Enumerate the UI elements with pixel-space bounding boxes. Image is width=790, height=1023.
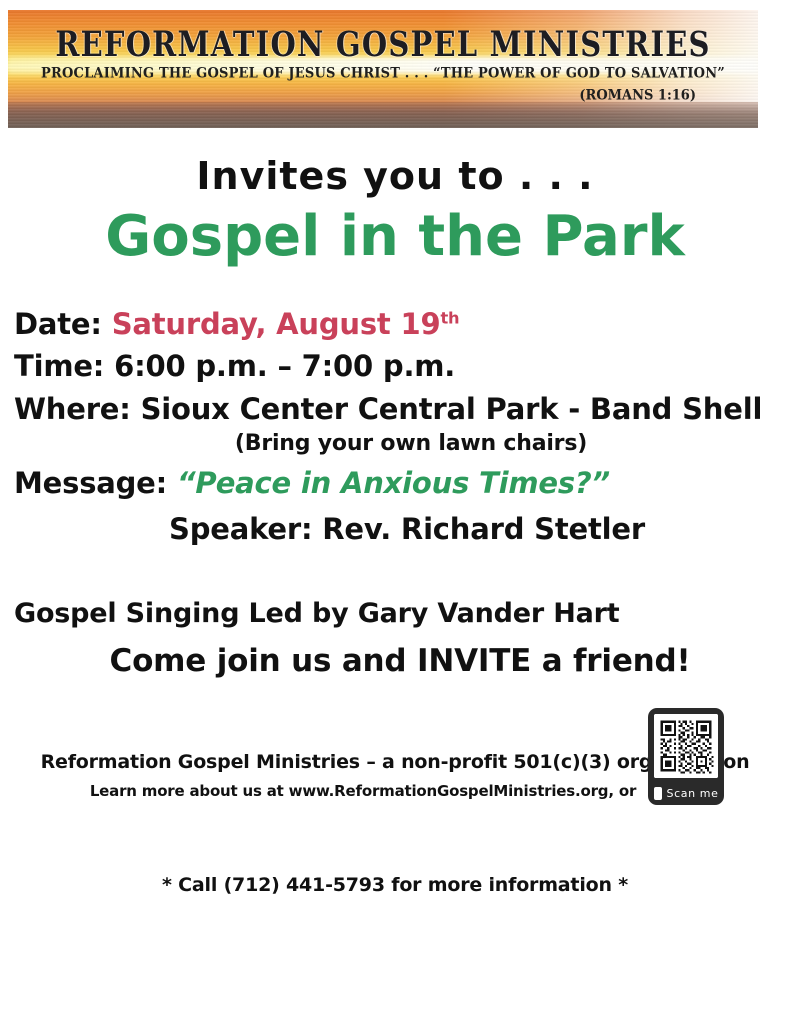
event-title: Gospel in the Park: [0, 204, 790, 269]
ministry-tagline: PROCLAIMING THE GOSPEL OF JESUS CHRIST .…: [8, 65, 758, 82]
ministry-name: REFORMATION GOSPEL MINISTRIES: [8, 24, 758, 64]
qr-code-icon: [654, 714, 718, 778]
call-to-action: Come join us and INVITE a friend!: [10, 643, 790, 679]
learn-more-line: Learn more about us at www.ReformationGo…: [0, 782, 726, 800]
time-value: 6:00 p.m. – 7:00 p.m.: [114, 349, 455, 383]
time-label: Time:: [14, 349, 104, 383]
where-note: (Bring your own lawn chairs): [32, 431, 790, 456]
detail-row-date: Date: Saturday, August 19th: [14, 303, 790, 345]
detail-row-where: Where: Sioux Center Central Park - Band …: [14, 388, 790, 430]
qr-code-badge[interactable]: Scan me: [648, 708, 724, 805]
call-info-line: * Call (712) 441-5793 for more informati…: [0, 874, 790, 896]
invitation-intro: Invites you to . . .: [0, 154, 790, 198]
date-label: Date:: [14, 307, 102, 341]
scripture-reference: (ROMANS 1:16): [579, 87, 696, 104]
message-value: “Peace in Anxious Times?”: [177, 466, 610, 500]
message-label: Message:: [14, 466, 167, 500]
detail-row-time: Time: 6:00 p.m. – 7:00 p.m.: [14, 345, 790, 387]
date-ordinal-suffix: th: [440, 308, 459, 327]
ministry-banner: REFORMATION GOSPEL MINISTRIES PROCLAIMIN…: [8, 10, 758, 128]
date-value: Saturday, August 19: [112, 307, 441, 341]
speaker-line: Speaker: Rev. Richard Stetler: [24, 512, 790, 546]
event-details: Date: Saturday, August 19th Time: 6:00 p…: [0, 303, 790, 546]
scan-me-label: Scan me: [667, 787, 719, 800]
where-label: Where:: [14, 392, 131, 426]
gospel-singing-line: Gospel Singing Led by Gary Vander Hart: [0, 598, 790, 629]
phone-icon: [654, 787, 662, 800]
qr-caption: Scan me: [648, 787, 724, 800]
where-value: Sioux Center Central Park - Band Shell: [141, 392, 763, 426]
qr-code-image[interactable]: [654, 714, 718, 778]
detail-row-message: Message: “Peace in Anxious Times?”: [14, 462, 790, 504]
